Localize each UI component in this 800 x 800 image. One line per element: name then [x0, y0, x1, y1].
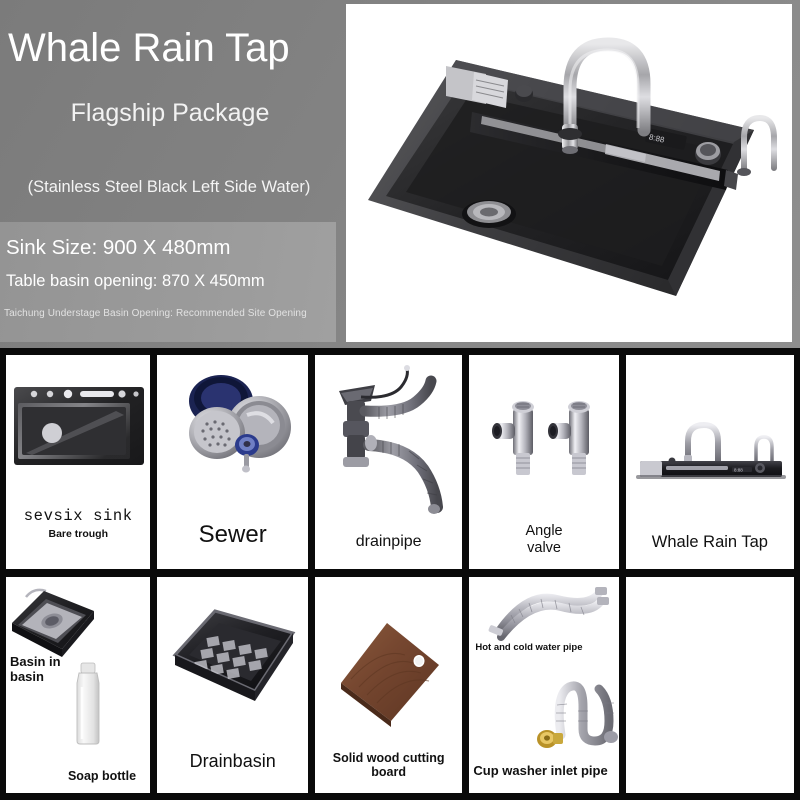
cell-label: Drainbasin: [157, 751, 307, 771]
hero-product-photo: 8:88: [346, 4, 792, 342]
cell-label: Sewer: [157, 522, 307, 549]
soap-bottle-icon: [68, 661, 108, 747]
svg-text:8:88: 8:88: [734, 468, 743, 473]
spec-panel: Sink Size: 900 X 480mm Table basin openi…: [0, 222, 336, 342]
hero-subtitle: Flagship Package: [0, 98, 340, 128]
cell-label: drainpipe: [315, 533, 462, 551]
cutting-board-icon: [335, 617, 445, 727]
grid-cell-water-pipes[interactable]: Hot and cold water pipe: [469, 577, 618, 793]
hero-banner: Whale Rain Tap Flagship Package (Stainle…: [0, 0, 800, 348]
cell-sublabel: Soap bottle: [52, 769, 150, 783]
product-listing-image: Whale Rain Tap Flagship Package (Stainle…: [0, 0, 800, 800]
hot-cold-hose-icon: [485, 585, 611, 643]
basin-icon: [8, 583, 100, 663]
package-contents-grid: sevsix sink Bare trough: [0, 348, 800, 800]
hero-text-block: Whale Rain Tap Flagship Package (Stainle…: [0, 0, 346, 348]
cell-label: sevsix sink: [6, 508, 150, 525]
cell-label: Angle: [469, 523, 618, 539]
spec-fine-print: Taichung Understage Basin Opening: Recom…: [4, 308, 307, 319]
cup-washer-hose-icon: [525, 677, 618, 755]
grid-cell-cutting-board[interactable]: Solid wood cutting board: [315, 577, 462, 793]
sink-icon: [12, 381, 146, 471]
cell-label: Hot and cold water pipe: [475, 643, 585, 654]
grid-cell-empty: [626, 577, 794, 793]
grid-cell-sevsix-sink[interactable]: sevsix sink Bare trough: [6, 355, 150, 569]
drainpipe-icon: [331, 365, 451, 525]
spec-sink-size: Sink Size: 900 X 480mm: [6, 236, 230, 260]
grid-row-1: sevsix sink Bare trough: [6, 355, 794, 569]
grid-cell-angle-valve[interactable]: Angle valve: [469, 355, 618, 569]
grid-cell-drainpipe[interactable]: drainpipe: [315, 355, 462, 569]
grid-row-2: Basin in basin: [6, 577, 794, 793]
cell-label: Solid wood cutting board: [315, 751, 462, 779]
hero-variant-label: (Stainless Steel Black Left Side Water): [0, 176, 338, 198]
sewer-icon: [177, 371, 295, 481]
cell-label: Whale Rain Tap: [626, 533, 794, 551]
angle-valve-icon: [491, 393, 601, 479]
cell-sublabel: Bare trough: [6, 529, 150, 541]
tap-icon: 8:88: [636, 411, 786, 481]
page-title: Whale Rain Tap: [8, 26, 346, 70]
grid-cell-drainbasin[interactable]: Drainbasin: [157, 577, 307, 793]
grid-cell-basin-in-basin[interactable]: Basin in basin: [6, 577, 150, 793]
cell-sublabel: Cup washer inlet pipe: [473, 764, 618, 779]
drainbasin-icon: [169, 599, 299, 709]
grid-cell-whale-rain-tap[interactable]: 8:88 Whale Rain Tap: [626, 355, 794, 569]
spec-table-opening: Table basin opening: 870 X 450mm: [6, 272, 265, 291]
grid-cell-sewer[interactable]: Sewer: [157, 355, 307, 569]
cell-sublabel: valve: [469, 540, 618, 556]
